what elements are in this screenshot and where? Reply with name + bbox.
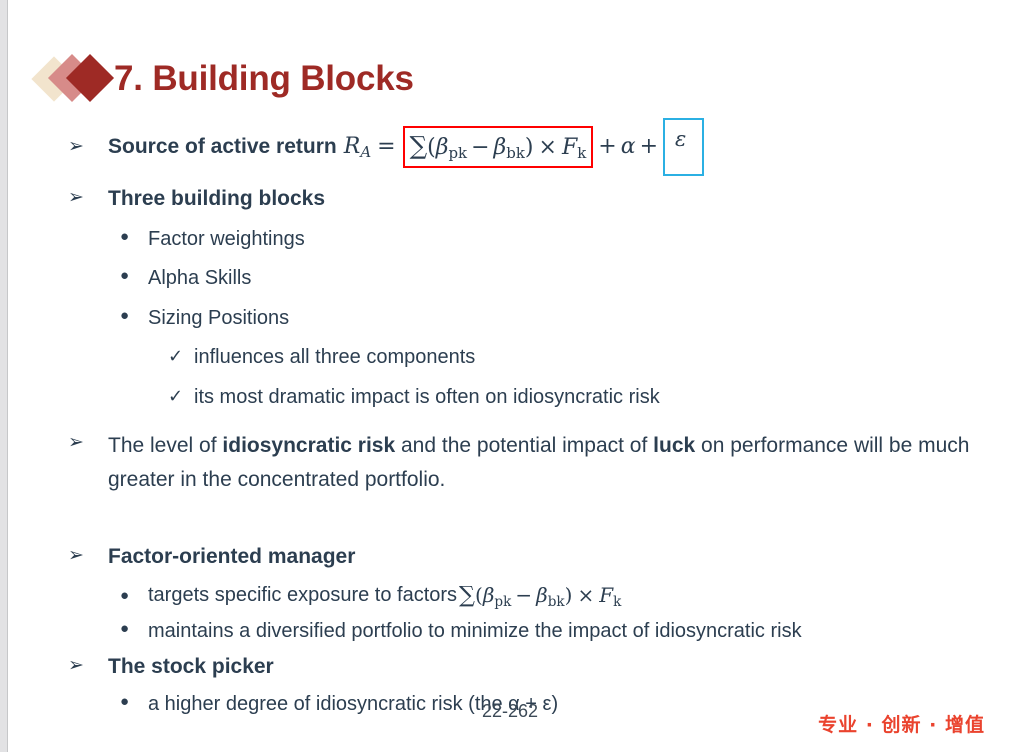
check-item-dramatic-impact: ✓ its most dramatic impact is often on i… [0, 383, 1015, 411]
arrow-bullet-icon: ➢ [68, 133, 108, 161]
arrow-bullet-icon: ➢ [68, 652, 108, 680]
list-item-label: Sizing Positions [148, 304, 1015, 332]
dot-bullet-icon: ● [120, 617, 148, 641]
page-title: 7. Building Blocks [114, 61, 414, 96]
list-item-label: targets specific exposure to factors [148, 581, 457, 609]
formula-epsilon: ε [675, 127, 686, 151]
check-item-label: influences all three components [194, 343, 1015, 371]
formula-lhs: RA [344, 131, 371, 163]
bullet-label: Factor-oriented manager [108, 542, 1015, 572]
para-part-2: and the potential impact of [395, 434, 653, 457]
check-bullet-icon: ✓ [168, 343, 194, 369]
bullet-label: Source of active return [108, 132, 337, 162]
list-item-targets-specific-exposure: ● targets specific exposure to factors ∑… [0, 580, 1015, 612]
list-item-maintains-diversified-portfolio: ● maintains a diversified portfolio to m… [0, 617, 1015, 645]
arrow-bullet-icon: ➢ [68, 542, 108, 570]
formula-red-highlight-box: ∑(βpk−βbk)×Fk [403, 126, 594, 169]
slide-body: ➢ Source of active return RA = ∑(βpk−βbk… [0, 118, 1015, 718]
dot-bullet-icon: ● [120, 690, 148, 714]
diamond-decoration-icon [36, 52, 114, 104]
dot-bullet-icon: ● [120, 304, 148, 328]
bullet-the-stock-picker: ➢ The stock picker [0, 652, 1015, 682]
formula-alpha: α [621, 131, 636, 162]
list-item-label: maintains a diversified portfolio to min… [148, 617, 1015, 645]
slide-title-row: 7. Building Blocks [36, 50, 414, 106]
formula-plus-1: + [598, 131, 616, 162]
formula-plus-2: + [640, 131, 658, 162]
dot-bullet-icon: ● [120, 225, 148, 249]
slide-canvas: 7. Building Blocks ➢ Source of active re… [0, 0, 1015, 752]
dot-bullet-icon: ● [120, 584, 148, 608]
formula-factor-exposure: ∑(βpk−βbk)×Fk [459, 580, 621, 612]
sum-sign: ∑ [410, 131, 428, 160]
bullet-label: The stock picker [108, 652, 1015, 682]
bullet-label: Three building blocks [108, 184, 1015, 214]
list-item-factor-weightings: ● Factor weightings [0, 225, 1015, 253]
bullet-factor-oriented-manager: ➢ Factor-oriented manager [0, 542, 1015, 572]
arrow-bullet-icon: ➢ [68, 429, 108, 457]
check-item-influences-all-three: ✓ influences all three components [0, 343, 1015, 371]
formula-active-return: RA = ∑(βpk−βbk)×Fk + α + ε [344, 118, 705, 175]
formula-equals: = [377, 131, 395, 162]
bullet-three-building-blocks: ➢ Three building blocks [0, 184, 1015, 214]
paragraph-text: The level of idiosyncratic risk and the … [108, 429, 975, 497]
footer-slogan: 专业 · 创新 · 增值 [818, 710, 985, 737]
list-item-label: Alpha Skills [148, 264, 1015, 292]
list-item-label: Factor weightings [148, 225, 1015, 253]
bullet-idiosyncratic-risk-paragraph: ➢ The level of idiosyncratic risk and th… [0, 429, 1015, 497]
para-bold-luck: luck [653, 434, 695, 457]
list-item-sizing-positions: ● Sizing Positions [0, 304, 1015, 332]
check-item-label: its most dramatic impact is often on idi… [194, 383, 1015, 411]
check-bullet-icon: ✓ [168, 383, 194, 409]
bullet-source-of-active-return: ➢ Source of active return RA = ∑(βpk−βbk… [0, 118, 1015, 176]
para-bold-idiosyncratic-risk: idiosyncratic risk [222, 434, 395, 457]
para-part-1: The level of [108, 434, 222, 457]
page-number: 22-262 [482, 701, 538, 722]
dot-bullet-icon: ● [120, 264, 148, 288]
list-item-alpha-skills: ● Alpha Skills [0, 264, 1015, 292]
arrow-bullet-icon: ➢ [68, 184, 108, 212]
formula-cyan-highlight-box: ε [663, 118, 704, 175]
